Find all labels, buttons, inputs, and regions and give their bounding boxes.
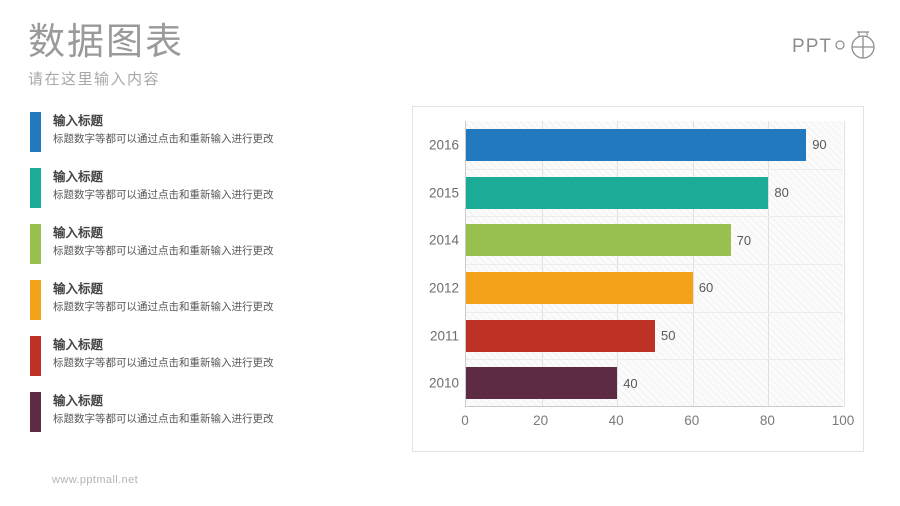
bar-row[interactable]: 70 xyxy=(466,224,751,256)
legend-item[interactable]: 输入标题标题数字等都可以通过点击和重新输入进行更改 xyxy=(30,168,350,211)
legend-text-block: 输入标题标题数字等都可以通过点击和重新输入进行更改 xyxy=(53,392,274,428)
bar-value-label: 80 xyxy=(774,185,788,200)
bar-value-label: 90 xyxy=(812,137,826,152)
legend-item-title: 输入标题 xyxy=(53,113,274,130)
legend-item[interactable]: 输入标题标题数字等都可以通过点击和重新输入进行更改 xyxy=(30,224,350,267)
globe-circle-icon xyxy=(848,28,878,65)
bar-value-label: 40 xyxy=(623,376,637,391)
legend-color-swatch xyxy=(30,336,41,376)
x-axis-tick-label: 0 xyxy=(461,413,469,428)
y-axis-tick-label: 2015 xyxy=(413,185,459,200)
legend-item[interactable]: 输入标题标题数字等都可以通过点击和重新输入进行更改 xyxy=(30,392,350,435)
y-axis-tick-label: 2012 xyxy=(413,280,459,295)
x-axis-tick-label: 20 xyxy=(533,413,548,428)
legend-text-block: 输入标题标题数字等都可以通过点击和重新输入进行更改 xyxy=(53,280,274,316)
gridline-horizontal xyxy=(466,216,843,217)
legend-item[interactable]: 输入标题标题数字等都可以通过点击和重新输入进行更改 xyxy=(30,336,350,379)
legend-item-title: 输入标题 xyxy=(53,337,274,354)
x-axis-line xyxy=(465,406,843,407)
legend-item[interactable]: 输入标题标题数字等都可以通过点击和重新输入进行更改 xyxy=(30,280,350,323)
x-axis-tick-label: 60 xyxy=(684,413,699,428)
x-axis-tick-label: 100 xyxy=(832,413,855,428)
brand-logo-text: PPT xyxy=(792,36,832,58)
legend-item-description: 标题数字等都可以通过点击和重新输入进行更改 xyxy=(53,300,274,316)
bar-row[interactable]: 60 xyxy=(466,272,713,304)
legend-item-description: 标题数字等都可以通过点击和重新输入进行更改 xyxy=(53,412,274,428)
bar[interactable] xyxy=(466,177,768,209)
bar[interactable] xyxy=(466,224,731,256)
x-axis-labels: 020406080100 xyxy=(465,413,843,433)
bar-row[interactable]: 50 xyxy=(466,320,675,352)
gridline-horizontal xyxy=(466,359,843,360)
slide-header: 数据图表 请在这里输入内容 xyxy=(28,22,528,89)
legend-color-swatch xyxy=(30,112,41,152)
legend-item-description: 标题数字等都可以通过点击和重新输入进行更改 xyxy=(53,132,274,148)
legend-list: 输入标题标题数字等都可以通过点击和重新输入进行更改输入标题标题数字等都可以通过点… xyxy=(30,112,350,448)
y-axis-tick-label: 2010 xyxy=(413,376,459,391)
legend-color-swatch xyxy=(30,280,41,320)
bar-value-label: 60 xyxy=(699,280,713,295)
bar-row[interactable]: 40 xyxy=(466,367,638,399)
page-title: 数据图表 xyxy=(28,22,528,62)
bar[interactable] xyxy=(466,367,617,399)
footer-url: www.pptmall.net xyxy=(52,474,138,486)
legend-text-block: 输入标题标题数字等都可以通过点击和重新输入进行更改 xyxy=(53,112,274,148)
gridline-horizontal xyxy=(466,312,843,313)
chart-inner: 908070605040 201620152014201220112010 02… xyxy=(413,107,863,451)
legend-color-swatch xyxy=(30,392,41,432)
legend-item-title: 输入标题 xyxy=(53,225,274,242)
y-axis-tick-label: 2016 xyxy=(413,137,459,152)
gridline-horizontal xyxy=(466,264,843,265)
legend-color-swatch xyxy=(30,224,41,264)
bar[interactable] xyxy=(466,129,806,161)
bar-row[interactable]: 80 xyxy=(466,177,789,209)
y-axis-labels: 201620152014201220112010 xyxy=(413,121,459,407)
gridline-horizontal xyxy=(466,169,843,170)
bar-row[interactable]: 90 xyxy=(466,129,827,161)
x-axis-tick-label: 40 xyxy=(609,413,624,428)
y-axis-tick-label: 2011 xyxy=(413,328,459,343)
bar[interactable] xyxy=(466,272,693,304)
legend-item-title: 输入标题 xyxy=(53,393,274,410)
plot-area: 908070605040 xyxy=(465,121,843,407)
circle-dot-icon xyxy=(834,38,846,56)
bar[interactable] xyxy=(466,320,655,352)
bar-value-label: 50 xyxy=(661,328,675,343)
x-axis-tick-label: 80 xyxy=(760,413,775,428)
legend-color-swatch xyxy=(30,168,41,208)
y-axis-tick-label: 2014 xyxy=(413,233,459,248)
brand-logo: PPT xyxy=(792,28,878,65)
legend-item-title: 输入标题 xyxy=(53,169,274,186)
legend-text-block: 输入标题标题数字等都可以通过点击和重新输入进行更改 xyxy=(53,168,274,204)
legend-item-description: 标题数字等都可以通过点击和重新输入进行更改 xyxy=(53,188,274,204)
legend-text-block: 输入标题标题数字等都可以通过点击和重新输入进行更改 xyxy=(53,224,274,260)
bar-value-label: 70 xyxy=(737,233,751,248)
legend-item-description: 标题数字等都可以通过点击和重新输入进行更改 xyxy=(53,356,274,372)
legend-item[interactable]: 输入标题标题数字等都可以通过点击和重新输入进行更改 xyxy=(30,112,350,155)
legend-item-description: 标题数字等都可以通过点击和重新输入进行更改 xyxy=(53,244,274,260)
legend-item-title: 输入标题 xyxy=(53,281,274,298)
chart-card: 908070605040 201620152014201220112010 02… xyxy=(412,106,864,452)
gridline-vertical xyxy=(844,121,845,407)
page-subtitle: 请在这里输入内容 xyxy=(28,68,528,89)
legend-text-block: 输入标题标题数字等都可以通过点击和重新输入进行更改 xyxy=(53,336,274,372)
